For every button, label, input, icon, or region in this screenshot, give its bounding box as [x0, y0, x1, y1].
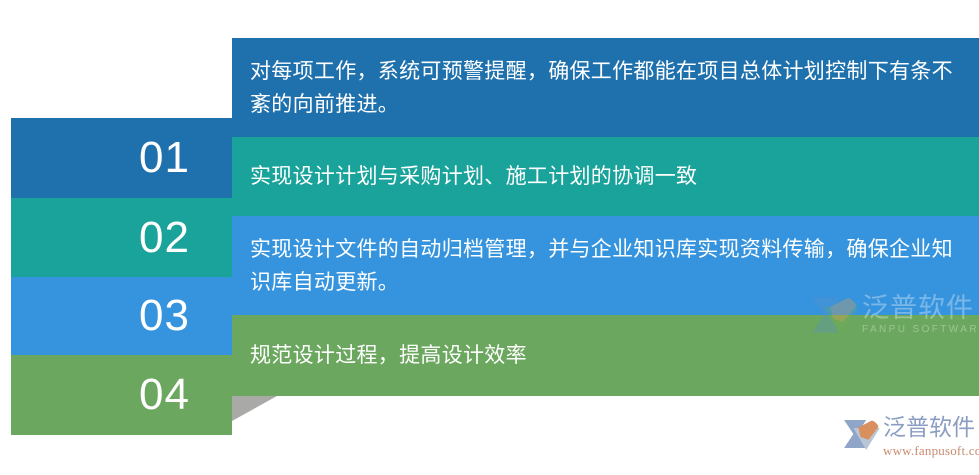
- number-block-02: 02: [11, 198, 232, 277]
- content-panel-04: 规范设计过程，提高设计效率: [232, 315, 979, 396]
- content-panel-text-04: 规范设计过程，提高设计效率: [250, 339, 527, 372]
- number-label-02: 02: [139, 216, 190, 260]
- fold-shadow-triangle: [232, 396, 277, 421]
- corner-watermark-text: 泛普软件 www.fanpusoft.com: [883, 417, 979, 459]
- number-label-04: 04: [139, 373, 190, 417]
- content-panel-text-02: 实现设计计划与采购计划、施工计划的协调一致: [250, 160, 697, 193]
- slide-canvas: 对每项工作，系统可预警提醒，确保工作都能在项目总体计划控制下有条不紊的向前推进。…: [0, 0, 979, 475]
- corner-watermark: 泛普软件 www.fanpusoft.com: [844, 417, 979, 475]
- content-panel-02: 实现设计计划与采购计划、施工计划的协调一致: [232, 137, 979, 216]
- number-label-01: 01: [139, 136, 190, 180]
- content-panel-text-03: 实现设计文件的自动归档管理，并与企业知识库实现资料传输，确保企业知识库自动更新。: [250, 233, 953, 298]
- number-label-03: 03: [139, 294, 190, 338]
- content-panel-01: 对每项工作，系统可预警提醒，确保工作都能在项目总体计划控制下有条不紊的向前推进。: [232, 38, 979, 137]
- number-block-04: 04: [11, 355, 232, 435]
- content-panel-text-01: 对每项工作，系统可预警提醒，确保工作都能在项目总体计划控制下有条不紊的向前推进。: [250, 55, 953, 120]
- number-block-01: 01: [11, 118, 232, 198]
- corner-watermark-url: www.fanpusoft.com: [883, 443, 979, 459]
- number-block-03: 03: [11, 277, 232, 355]
- fanpu-logo-corner-icon: [844, 418, 880, 450]
- corner-watermark-brand-cn: 泛普软件: [883, 417, 979, 440]
- content-panel-03: 实现设计文件的自动归档管理，并与企业知识库实现资料传输，确保企业知识库自动更新。: [232, 216, 979, 315]
